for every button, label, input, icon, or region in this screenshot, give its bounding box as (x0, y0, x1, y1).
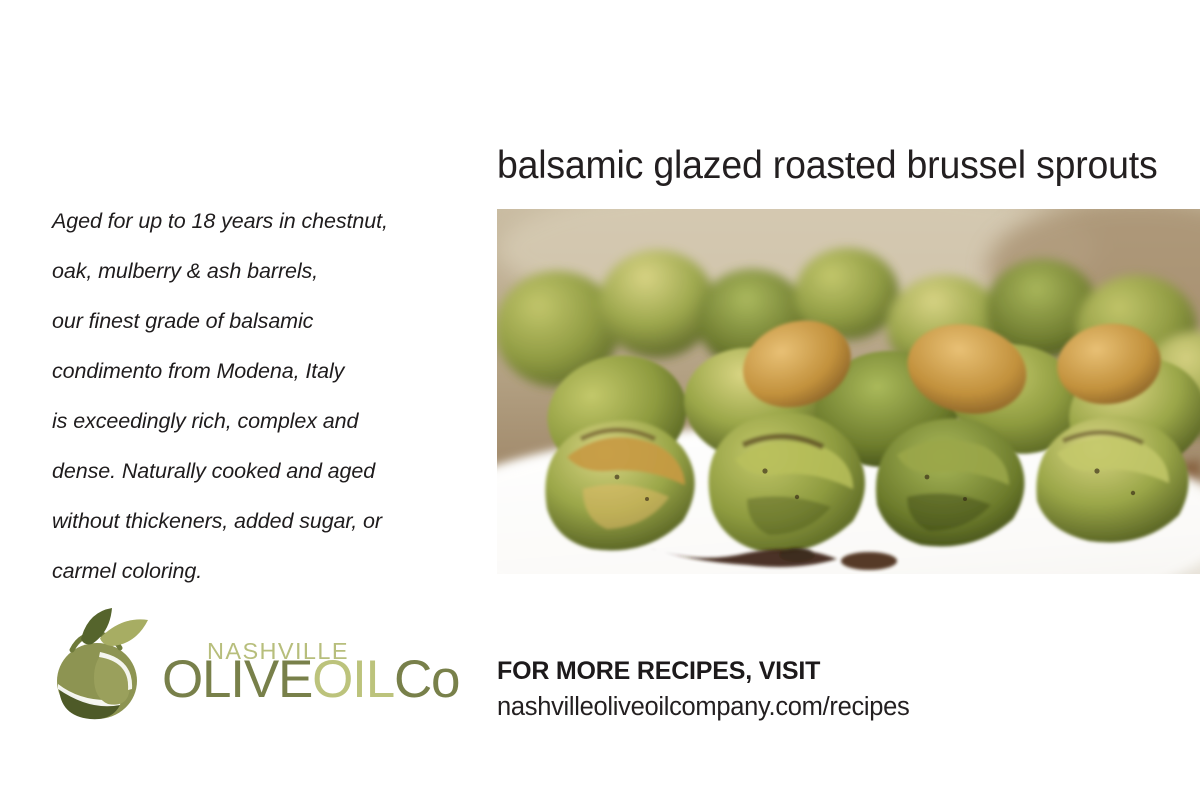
footer-block: FOR MORE RECIPES, VISIT nashvilleoliveoi… (497, 657, 1097, 722)
brand-logo: NASHVILLE OLIVEOILCo (50, 604, 418, 728)
description-line: our finest grade of balsamic (52, 296, 472, 346)
description-line: condimento from Modena, Italy (52, 346, 472, 396)
footer-url-text[interactable]: nashvilleoliveoilcompany.com/recipes (497, 692, 1097, 723)
logo-word-oil: OIL (312, 650, 394, 709)
recipe-title: balsamic glazed roasted brussel sprouts (497, 144, 1158, 188)
description-line: carmel coloring. (52, 546, 472, 596)
left-column: Aged for up to 18 years in chestnut, oak… (52, 196, 472, 596)
recipe-card: Aged for up to 18 years in chestnut, oak… (0, 0, 1200, 800)
footer-cta-text: FOR MORE RECIPES, VISIT (497, 657, 1097, 687)
recipe-photo (497, 209, 1200, 574)
description-line: oak, mulberry & ash barrels, (52, 246, 472, 296)
description-line: without thickeners, added sugar, or (52, 496, 472, 546)
product-description: Aged for up to 18 years in chestnut, oak… (52, 196, 472, 596)
logo-company-text: OLIVEOILCo (162, 653, 459, 706)
logo-word-olive: OLIVE (162, 650, 312, 709)
description-line: is exceedingly rich, complex and (52, 396, 472, 446)
olive-fruit-with-leaves-icon (50, 604, 172, 726)
description-line: Aged for up to 18 years in chestnut, (52, 196, 472, 246)
logo-word-co: Co (394, 650, 459, 709)
description-line: dense. Naturally cooked and aged (52, 446, 472, 496)
